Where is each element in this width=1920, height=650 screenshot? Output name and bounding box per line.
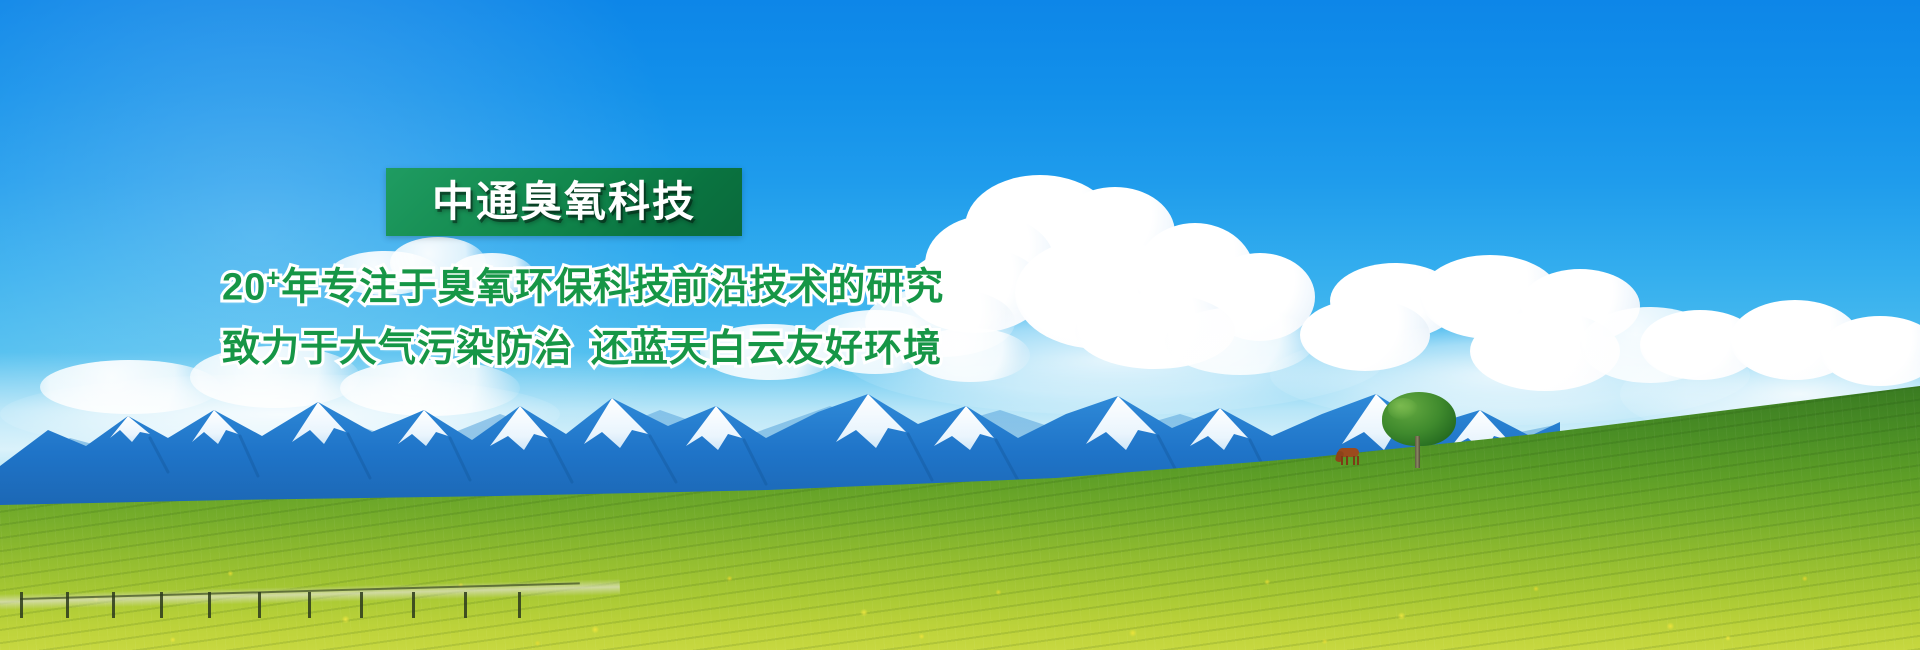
brand-title-text: 中通臭氧科技 xyxy=(432,181,696,223)
tagline-mission-left: 致力于大气污染防治 xyxy=(222,328,573,370)
tagline-years: 20+年专注于臭氧环保科技前沿技术的研究 xyxy=(222,267,982,307)
hero-banner: 中通臭氧科技 20+年专注于臭氧环保科技前沿技术的研究 致力于大气污染防治还蓝天… xyxy=(0,0,1920,650)
tagline-mission: 致力于大气污染防治还蓝天白云友好环境 xyxy=(222,330,982,368)
brand-title-badge: 中通臭氧科技 xyxy=(386,168,742,236)
banner-content: 中通臭氧科技 20+年专注于臭氧环保科技前沿技术的研究 致力于大气污染防治还蓝天… xyxy=(0,0,1920,650)
tagline-years-superscript: + xyxy=(266,265,281,292)
tagline-mission-right: 还蓝天白云友好环境 xyxy=(591,328,942,370)
tagline-years-number: 20 xyxy=(222,267,266,309)
tagline-years-text: 年专注于臭氧环保科技前沿技术的研究 xyxy=(281,267,944,309)
